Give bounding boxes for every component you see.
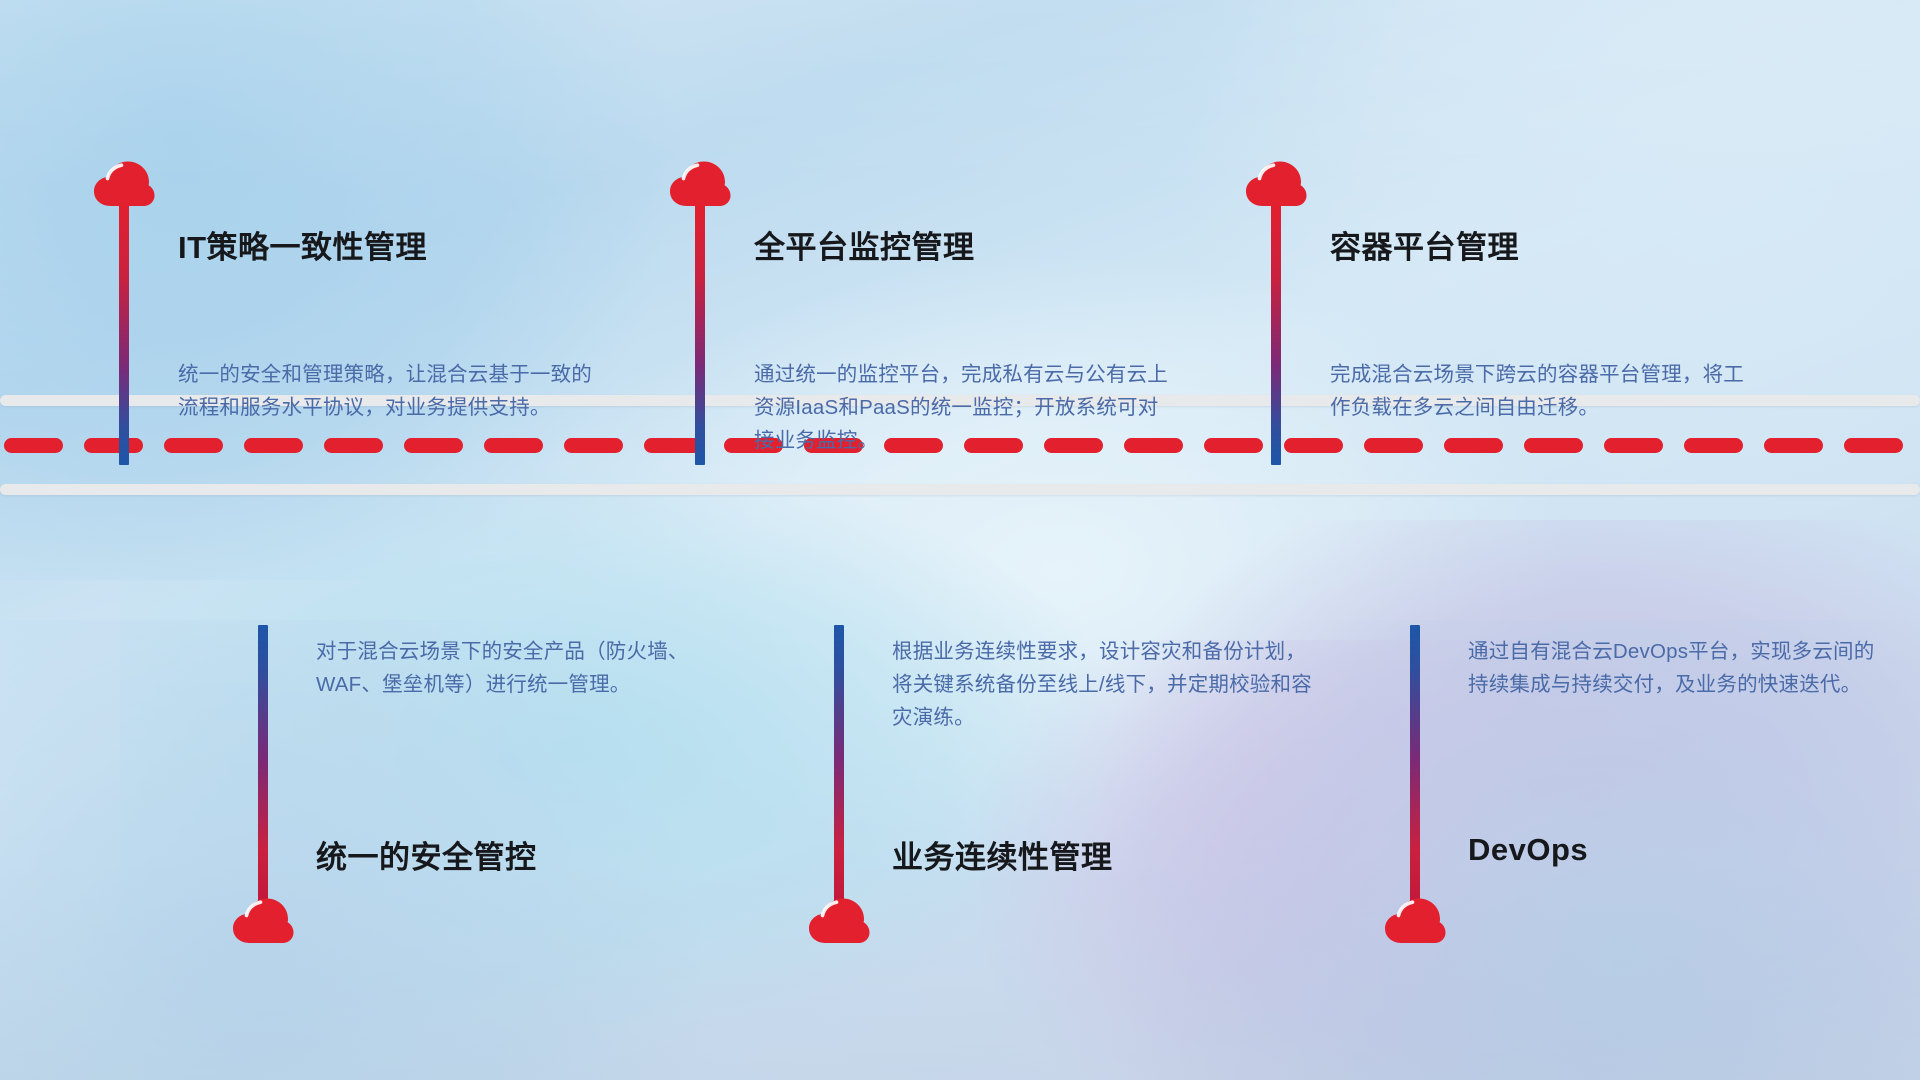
column-heading: 容器平台管理	[1330, 222, 1519, 267]
column-heading: 业务连续性管理	[892, 832, 1113, 877]
road-dash-segment	[484, 438, 543, 453]
road-dash-segment	[4, 438, 63, 453]
cloud-icon	[1384, 897, 1446, 945]
road-dash-segment	[324, 438, 383, 453]
road-dash-segment	[1284, 438, 1343, 453]
road-dash-segment	[164, 438, 223, 453]
column-body-text: 通过统一的监控平台，完成私有云与公有云上资源IaaS和PaaS的统一监控；开放系…	[754, 358, 1174, 457]
road-dash-segment	[1844, 438, 1903, 453]
road-dash-segment	[1524, 438, 1583, 453]
road-dash-segment	[564, 438, 623, 453]
cloud-icon	[93, 160, 155, 208]
road-dash-segment	[1204, 438, 1263, 453]
column-body-text: 根据业务连续性要求，设计容灾和备份计划，将关键系统备份至线上/线下，并定期校验和…	[892, 635, 1312, 734]
connector-stem	[258, 625, 268, 905]
cloud-icon	[669, 160, 731, 208]
connector-stem	[1271, 205, 1281, 465]
road-dash-segment	[1684, 438, 1743, 453]
road-edge-line-bottom	[0, 484, 1920, 495]
column-body-text: 统一的安全和管理策略，让混合云基于一致的流程和服务水平协议，对业务提供支持。	[178, 358, 598, 424]
cloud-icon	[1245, 160, 1307, 208]
column-heading: 统一的安全管控	[316, 832, 537, 877]
connector-stem	[119, 205, 129, 465]
road-dash-segment	[84, 438, 143, 453]
road-dash-segment	[1604, 438, 1663, 453]
column-body-text: 对于混合云场景下的安全产品（防火墙、WAF、堡垒机等）进行统一管理。	[316, 635, 736, 701]
column-heading: 全平台监控管理	[754, 222, 975, 267]
column-body-text: 通过自有混合云DevOps平台，实现多云间的持续集成与持续交付，及业务的快速迭代…	[1468, 635, 1888, 701]
cloud-icon	[232, 897, 294, 945]
road-dash-segment	[404, 438, 463, 453]
column-body-text: 完成混合云场景下跨云的容器平台管理，将工作负载在多云之间自由迁移。	[1330, 358, 1750, 424]
cloud-icon	[808, 897, 870, 945]
column-heading: DevOps	[1468, 832, 1588, 868]
connector-stem	[1410, 625, 1420, 905]
column-heading: IT策略一致性管理	[178, 222, 427, 267]
road-dash-segment	[1764, 438, 1823, 453]
connector-stem	[695, 205, 705, 465]
road-dash-segment	[1364, 438, 1423, 453]
road-dash-segment	[1444, 438, 1503, 453]
connector-stem	[834, 625, 844, 905]
road-dash-segment	[244, 438, 303, 453]
